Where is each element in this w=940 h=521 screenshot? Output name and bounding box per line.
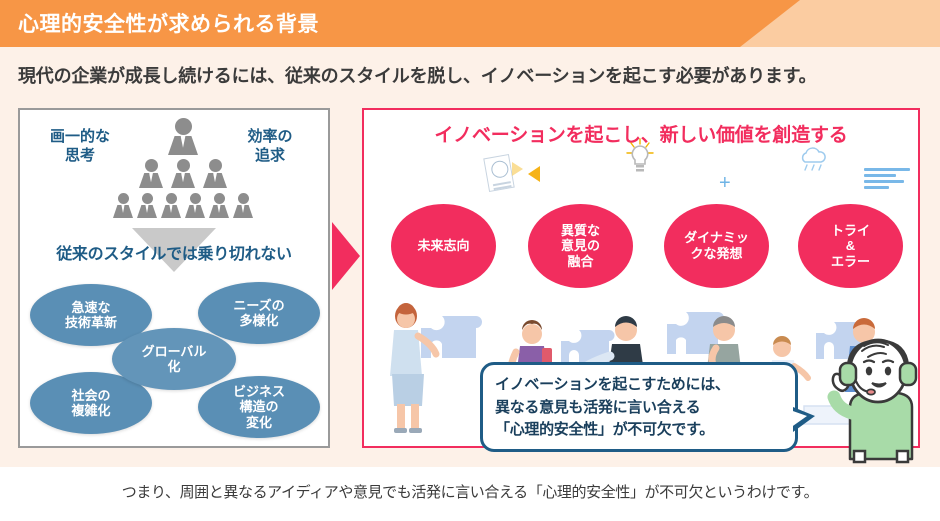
document-chart-icon: [483, 154, 515, 192]
triangle-outline-icon: [512, 162, 523, 176]
factor-ellipse-business-structure: ビジネス 構造の 変化: [198, 376, 320, 438]
factor-line-2: 構造の: [233, 399, 285, 414]
person-icon: [203, 159, 227, 188]
pyramid-row-3: [108, 193, 258, 218]
person-icon: [209, 193, 229, 218]
person-icon: [139, 159, 163, 188]
factor-line-1: 社会の: [71, 388, 110, 403]
person-icon: [113, 193, 133, 218]
concept-circle-trial-and-error: トライ & エラー: [798, 204, 903, 288]
factor-ellipse-needs-diversity: ニーズの 多様化: [198, 282, 320, 344]
right-arrow-icon: [332, 222, 360, 290]
factor-line-2: 化: [142, 359, 207, 374]
speech-bubble-tail: [793, 407, 815, 432]
cloud-rain-icon: [796, 146, 830, 172]
pyramid-row-2: [108, 159, 258, 188]
slide-header: 心理的安全性が求められる背景: [0, 0, 940, 47]
headset-character: [820, 333, 936, 467]
factor-line-3: 変化: [233, 415, 285, 430]
speech-bubble-line-1: イノベーションを起こすためには、: [495, 374, 785, 397]
factor-line-1: ビジネス: [233, 384, 285, 399]
factor-line-2: 多様化: [233, 313, 284, 328]
person-icon: [161, 193, 181, 218]
person-icon: [185, 193, 205, 218]
concept-line-2: &: [831, 238, 870, 254]
concept-circle-future-oriented: 未来志向: [391, 204, 496, 288]
slide-root: 心理的安全性が求められる背景 現代の企業が成長し続けるには、従来のスタイルを脱し…: [0, 0, 940, 521]
concept-line-1: ダイナミッ: [684, 230, 749, 246]
factor-line-2: 複雑化: [71, 403, 110, 418]
concept-line-3: エラー: [831, 254, 870, 270]
text-lines-icon: [864, 168, 910, 192]
speech-bubble-line-3: 「心理的安全性」が不可欠です。: [495, 419, 785, 442]
bottom-caption: つまり、周囲と異なるアイディアや意見でも活発に言い合える「心理的安全性」が不可欠…: [0, 481, 940, 502]
person-figure: [390, 303, 436, 433]
concept-circle-dynamic-ideas: ダイナミッ クな発想: [664, 204, 769, 288]
concept-line-1: 異質な: [561, 223, 600, 239]
factor-line-1: ニーズの: [233, 298, 284, 313]
speech-bubble-text: イノベーションを起こすためには、 異なる意見も活発に言い合える 「心理的安全性」…: [495, 374, 785, 442]
concept-line-1: 未来志向: [417, 238, 469, 254]
speech-bubble-line-2: 異なる意見も活発に言い合える: [495, 397, 785, 420]
concept-circle-diverse-opinions: 異質な 意見の 融合: [528, 204, 633, 288]
page-title: 心理的安全性が求められる背景: [18, 8, 319, 38]
factor-line-1: 急速な: [65, 300, 117, 315]
pyramid-row-1: [108, 118, 258, 155]
concept-line-2: クな発想: [684, 246, 749, 262]
lightbulb-icon: [626, 138, 654, 176]
factor-line-2: 技術革新: [65, 315, 117, 330]
factor-line-1: グローバル: [142, 344, 207, 359]
lead-sentence: 現代の企業が成長し続けるには、従来のスタイルを脱し、イノベーションを起こす必要が…: [18, 62, 816, 88]
person-icon: [137, 193, 157, 218]
plus-icon: +: [719, 173, 731, 193]
person-icon: [233, 193, 253, 218]
factor-ellipse-globalization: グローバル 化: [112, 328, 236, 390]
left-panel: 画一的な 思考 効率の 追求: [18, 108, 330, 448]
hierarchy-pyramid-icon: [108, 116, 258, 228]
person-icon: [168, 118, 198, 155]
concept-line-3: 融合: [561, 254, 600, 270]
concept-line-1: トライ: [831, 223, 870, 239]
triangle-filled-icon: [528, 166, 540, 182]
person-icon: [171, 159, 195, 188]
speech-bubble: イノベーションを起こすためには、 異なる意見も活発に言い合える 「心理的安全性」…: [480, 362, 798, 452]
left-panel-caption: 従来のスタイルでは乗り切れない: [20, 240, 328, 264]
concept-line-2: 意見の: [561, 238, 600, 254]
